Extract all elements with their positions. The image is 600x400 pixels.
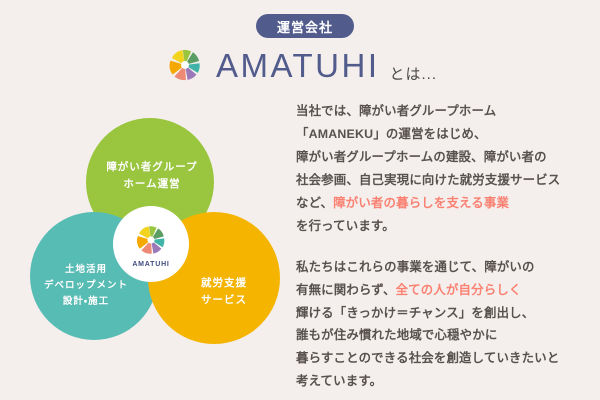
- copy-line-highlighted: など、障がい者の暮らしを支える事業: [296, 192, 592, 215]
- venn-circle-group-home-label: 障がい者グループ ホーム運営: [106, 159, 197, 194]
- copy-line: 暮らすことのできる社会を創造していきたいと: [296, 347, 592, 370]
- copy-line: 考えています。: [296, 370, 592, 393]
- venn-label-line: デベロップメント: [44, 278, 128, 294]
- venn-center-badge: AMATUHI: [113, 206, 189, 282]
- venn-label-line: 就労支援: [201, 275, 247, 292]
- venn-label-line: サービス: [201, 292, 247, 309]
- venn-label-line: 障がい者グループ: [106, 159, 197, 176]
- business-venn-diagram: 障がい者グループ ホーム運営 土地活用 デベロップメント 設計・施工 就労支援 …: [8, 100, 288, 362]
- copy-line-highlighted: 有無に関わらず、全ての人が自分らしく: [296, 279, 592, 302]
- copy-line: 私たちはこれらの事業を通じて、障がいの: [296, 256, 592, 279]
- brand-row: AMATUHI とは...: [0, 42, 600, 88]
- copy-line: 社会参画、自己実現に向けた就労支援サービス: [296, 169, 592, 192]
- about-copy: 当社では、障がい者グループホーム 「AMANEKU」の運営をはじめ、 障がい者グ…: [296, 100, 592, 393]
- section-badge: 運営会社: [256, 14, 354, 38]
- copy-line: 輝ける「きっかけ＝チャンス」を創出し、: [296, 302, 592, 325]
- copy-line: 「AMANEKU」の運営をはじめ、: [296, 123, 592, 146]
- copy-text: など、: [296, 196, 333, 210]
- copy-highlight: 全ての人が自分らしく: [396, 283, 522, 297]
- paragraph-spacer: [296, 238, 592, 256]
- about-paragraph-1: 当社では、障がい者グループホーム 「AMANEKU」の運営をはじめ、 障がい者グ…: [296, 100, 592, 238]
- header: 運営会社 AMATUHI とは...: [0, 0, 600, 92]
- copy-highlight: 障がい者の暮らしを支える事業: [333, 196, 509, 210]
- amatuhi-pinwheel-logo-icon: [131, 220, 171, 260]
- venn-label-line: 設計・施工: [44, 294, 128, 310]
- brand-suffix: とは...: [390, 63, 438, 88]
- venn-circle-employment-support-label: 就労支援 サービス: [201, 275, 247, 310]
- copy-line: 障がい者グループホームの建設、障がい者の: [296, 146, 592, 169]
- about-paragraph-2: 私たちはこれらの事業を通じて、障がいの 有無に関わらず、全ての人が自分らしく 輝…: [296, 256, 592, 394]
- venn-center-badge-label: AMATUHI: [132, 261, 169, 268]
- copy-line: を行っています。: [296, 215, 592, 238]
- venn-label-line: 土地活用: [44, 262, 128, 278]
- section-badge-label: 運営会社: [277, 17, 333, 36]
- brand-wordmark: AMATUHI: [216, 49, 380, 82]
- copy-line: 誰もが住み慣れた地域で心穏やかに: [296, 324, 592, 347]
- copy-text: 有無に関わらず、: [296, 283, 396, 297]
- venn-circle-land-development-label: 土地活用 デベロップメント 設計・施工: [44, 262, 128, 309]
- venn-label-line: ホーム運営: [106, 176, 197, 193]
- copy-line: 当社では、障がい者グループホーム: [296, 100, 592, 123]
- amatuhi-pinwheel-logo-icon: [163, 43, 207, 87]
